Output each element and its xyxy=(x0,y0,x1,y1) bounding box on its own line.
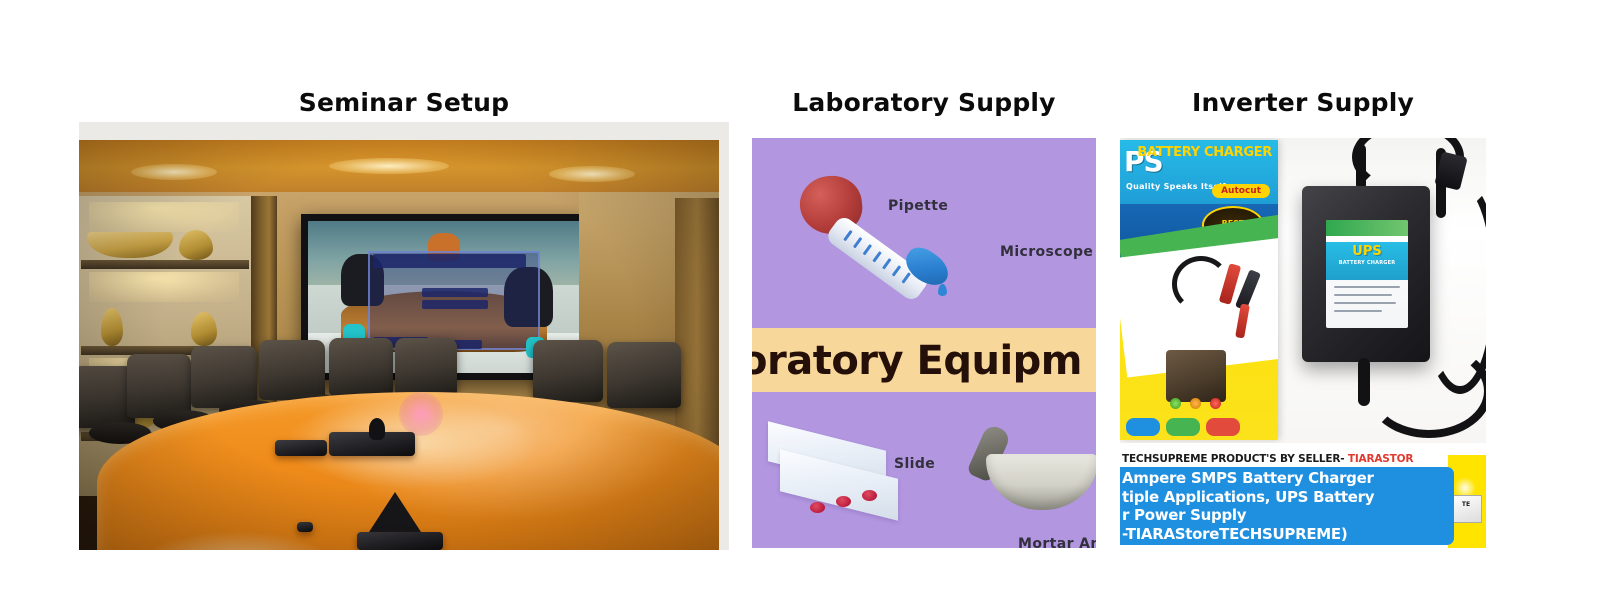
shelf-light-glow xyxy=(89,202,239,232)
feature-pill xyxy=(1126,418,1160,436)
pipette-droplet-icon xyxy=(938,284,947,296)
panel-title-inverter-supply: Inverter Supply xyxy=(1120,88,1486,117)
carton-autocut-badge: Autocut xyxy=(1212,184,1270,198)
laboratory-equipment-band-text: oratory Equipm xyxy=(752,338,1082,384)
label-product-text: BATTERY CHARGER xyxy=(1326,260,1408,266)
carton-subtitle: BATTERY CHARGER xyxy=(1137,146,1272,160)
carton-adapter-photo xyxy=(1166,350,1226,402)
seminar-setup-image-frame[interactable] xyxy=(79,122,729,550)
table-stand-base xyxy=(357,532,443,550)
pipette-graduation xyxy=(843,230,852,241)
shelf-board xyxy=(81,260,249,269)
power-cord xyxy=(1172,256,1230,312)
label-spec-line xyxy=(1334,286,1400,288)
inverter-supply-image-frame[interactable]: PS BATTERY CHARGER Quality Speaks Itself… xyxy=(1120,138,1486,548)
conference-chair xyxy=(191,346,257,408)
label-spec-line xyxy=(1334,294,1392,296)
downlight-icon xyxy=(549,166,635,182)
label-ups-text: UPS xyxy=(1326,244,1408,259)
pipette-graduation xyxy=(863,244,872,255)
downlight-icon xyxy=(329,158,449,174)
pipette-graduation xyxy=(872,251,881,262)
adapter-spec-label: UPS BATTERY CHARGER xyxy=(1326,220,1408,328)
table-object xyxy=(297,522,313,532)
smps-adapter-unit: UPS BATTERY CHARGER xyxy=(1302,186,1430,362)
pipette-label: Pipette xyxy=(888,198,948,214)
product-title-banner: Ampere SMPS Battery Charger tiple Applic… xyxy=(1120,467,1454,545)
pipette-graduation xyxy=(901,272,910,283)
slide-sample-spot xyxy=(862,490,877,501)
conference-microphone-unit xyxy=(275,440,327,456)
feature-pill xyxy=(1206,418,1240,436)
led-indicator-red xyxy=(1210,398,1221,409)
microscope-slide-illustration xyxy=(768,430,938,530)
conference-chair xyxy=(329,338,393,396)
laboratory-equipment-band: oratory Equipm xyxy=(752,328,1096,392)
banner-line: -TIARAStoreTECHSUPREME) xyxy=(1122,525,1454,544)
product-description-block: TE TECHSUPREME PRODUCT'S BY SELLER- TIAR… xyxy=(1120,443,1486,548)
conference-chair xyxy=(259,340,325,400)
panel-title-laboratory-supply: Laboratory Supply xyxy=(752,88,1096,117)
mortar-label: Mortar An xyxy=(1018,536,1096,548)
conference-chair xyxy=(127,354,191,418)
overlay-bar xyxy=(373,254,525,268)
laboratory-supply-image-frame[interactable]: Pipette Microscope oratory Equipm Slide … xyxy=(752,138,1096,548)
conference-chair xyxy=(607,342,681,408)
overlay-bar xyxy=(422,300,487,309)
carton-tagline: Quality Speaks Itself xyxy=(1126,182,1226,191)
label-brand-band xyxy=(1326,220,1408,236)
panel-title-seminar-setup: Seminar Setup xyxy=(79,88,729,117)
banner-line: Ampere SMPS Battery Charger xyxy=(1122,469,1454,488)
feature-pill xyxy=(1166,418,1200,436)
decor-vase xyxy=(179,230,213,260)
led-indicator-amber xyxy=(1190,398,1201,409)
microscope-label: Microscope xyxy=(1000,244,1093,260)
panel-inverter-supply[interactable]: Inverter Supply PS BATTERY CHARGER Quali… xyxy=(1120,88,1486,548)
brand-thumbnail-text: TE xyxy=(1451,501,1481,508)
slide-sample-spot xyxy=(810,502,825,513)
table-reflection xyxy=(137,532,337,550)
panel-laboratory-supply[interactable]: Laboratory Supply Pipette Microscope xyxy=(752,88,1096,548)
seller-name-text: TIARASTOR xyxy=(1348,453,1413,465)
pipette-graduation xyxy=(892,265,901,276)
shelf-light-glow xyxy=(89,272,239,302)
slide-sample-spot xyxy=(836,496,851,507)
conference-chair xyxy=(395,338,457,396)
overlay-bar xyxy=(422,288,487,297)
panel-seminar-setup[interactable]: Seminar Setup xyxy=(79,88,729,550)
mortar-bowl-icon xyxy=(986,454,1096,510)
inverter-product-photo: PS BATTERY CHARGER Quality Speaks Itself… xyxy=(1120,138,1486,443)
label-spec-line xyxy=(1334,310,1382,312)
seminar-setup-photo xyxy=(79,140,719,550)
seller-prefix-text: TECHSUPREME PRODUCT'S BY SELLER- xyxy=(1122,453,1344,465)
table-stand xyxy=(369,492,421,532)
pipette-graduation xyxy=(882,258,891,269)
decor-bowl xyxy=(87,232,173,258)
slide-label: Slide xyxy=(894,456,935,472)
banner-line: r Power Supply xyxy=(1122,506,1454,525)
retail-carton: PS BATTERY CHARGER Quality Speaks Itself… xyxy=(1120,140,1278,440)
microphone-head-icon xyxy=(369,418,385,440)
downlight-icon xyxy=(131,164,217,180)
conference-chair xyxy=(533,340,603,402)
table-reflection-light xyxy=(399,392,443,436)
mortar-and-pestle-illustration xyxy=(970,426,1096,526)
pipette-illustration xyxy=(796,174,966,304)
banner-line: tiple Applications, UPS Battery xyxy=(1122,488,1454,507)
seller-line: TECHSUPREME PRODUCT'S BY SELLER- TIARAST… xyxy=(1122,453,1413,465)
pipette-graduation xyxy=(853,237,862,248)
product-gallery: Seminar Setup xyxy=(0,0,1600,600)
label-spec-line xyxy=(1334,302,1396,304)
led-indicator-green xyxy=(1170,398,1181,409)
brand-thumbnail: TE xyxy=(1450,495,1482,523)
